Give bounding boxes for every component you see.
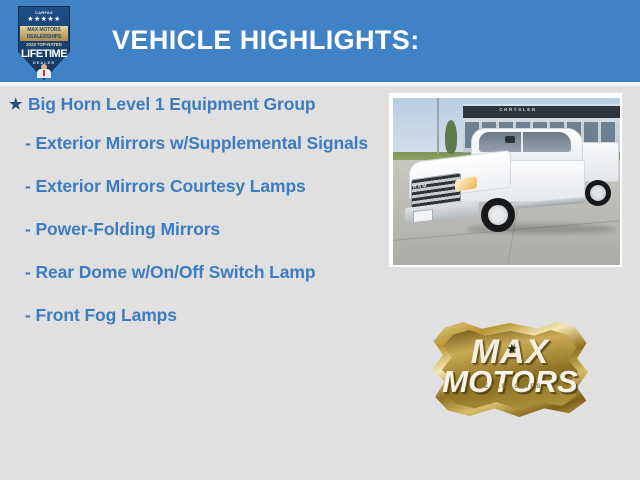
truck-windows — [479, 132, 571, 152]
truck-rear-wheel — [585, 180, 611, 206]
vehicle-photo[interactable]: CHRYSLER RAM — [388, 92, 623, 268]
highlight-item-label: - Exterior Mirrors w/Supplemental Signal… — [25, 133, 368, 153]
highlight-item-label: Big Horn Level 1 Equipment Group — [28, 94, 316, 114]
logo-text-dealerships: DEALERSHIPS — [432, 384, 588, 390]
carfax-lifetime-dealer-badge: CARFAX ★★★★★ MAX MOTORS DEALERSHIPS 2023… — [18, 6, 70, 80]
highlight-item: - Power-Folding Mirrors — [0, 217, 372, 242]
highlight-item: - Exterior Mirrors w/Supplemental Signal… — [0, 131, 372, 156]
photo-tree — [445, 120, 457, 154]
badge-year-line: 2023 TOP-RATED — [18, 42, 70, 47]
highlight-item: - Front Fog Lamps — [0, 303, 372, 328]
carfax-wordmark: CARFAX — [18, 10, 70, 15]
header-divider — [0, 82, 640, 86]
badge-salesperson-icon — [37, 64, 51, 78]
highlight-item: - Exterior Mirrors Courtesy Lamps — [0, 174, 372, 199]
badge-lifetime-text: LIFETIME — [18, 48, 70, 60]
highlights-list: ★Big Horn Level 1 Equipment Group- Exter… — [0, 92, 372, 346]
photo-chrysler-sign-text: CHRYSLER — [463, 107, 573, 112]
carfax-stars-icon: ★★★★★ — [18, 16, 70, 24]
max-motors-logo[interactable]: MAX ★ MOTORS DEALERSHIPS — [432, 322, 588, 418]
truck-front-wheel — [481, 198, 515, 232]
slide-header: CARFAX ★★★★★ MAX MOTORS DEALERSHIPS 2023… — [0, 0, 640, 82]
highlight-item-label: - Exterior Mirrors Courtesy Lamps — [25, 176, 306, 196]
truck-door-pillar — [521, 132, 523, 152]
highlight-item: ★Big Horn Level 1 Equipment Group — [0, 92, 372, 117]
truck-side-mirror — [505, 136, 515, 143]
vehicle-photo-image: CHRYSLER RAM — [393, 98, 620, 265]
vehicle-highlights-slide: CARFAX ★★★★★ MAX MOTORS DEALERSHIPS 2023… — [0, 0, 640, 480]
photo-light-pole — [437, 98, 439, 154]
highlight-item: - Rear Dome w/On/Off Switch Lamp — [0, 260, 372, 285]
highlight-item-label: - Power-Folding Mirrors — [25, 219, 220, 239]
star-bullet-icon: ★ — [9, 92, 22, 117]
truck-license-plate — [413, 209, 433, 223]
page-title: VEHICLE HIGHLIGHTS: — [112, 25, 420, 56]
logo-text-motors: MOTORS — [432, 366, 588, 397]
badge-gold-band: MAX MOTORS DEALERSHIPS — [20, 26, 68, 41]
highlight-item-label: - Front Fog Lamps — [25, 305, 177, 325]
badge-dealer-name-line2: DEALERSHIPS — [20, 34, 68, 40]
badge-dealer-name-line1: MAX MOTORS — [20, 26, 68, 34]
highlight-item-label: - Rear Dome w/On/Off Switch Lamp — [25, 262, 315, 282]
logo-star-icon: ★ — [506, 342, 518, 355]
